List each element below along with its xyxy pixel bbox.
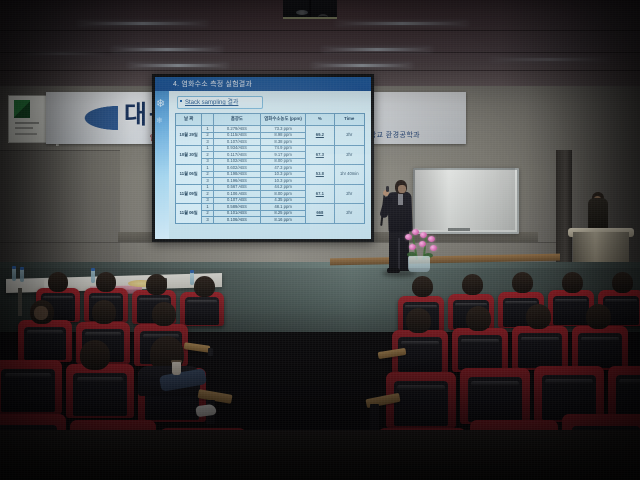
audience-head [194,276,215,297]
snowflake-icon: ❄ [156,99,165,110]
audience-head [526,304,551,329]
audience-head [512,272,533,293]
col-date: 날 짜 [176,114,202,126]
audience-head [96,272,116,292]
table-body: 10월 29일10.279/ABS73.3 ppm69.22hr20.115/A… [176,126,365,224]
audience-head [152,302,176,326]
orchid-bloom [428,236,435,242]
col-absorbance: 흡광도 [213,114,260,126]
presenter-face [398,185,406,193]
wall-poster [8,95,48,143]
audience-head [466,306,491,331]
row-date: 11월 06일 [176,204,202,224]
row-date: 11월 06일 [176,165,202,185]
ppm-value: 8.16 ppm [261,217,306,224]
floor-foreground [0,430,640,480]
seat [512,326,568,370]
slide-bullet-text: Stack sampling 결과 [185,97,238,106]
seat [452,328,508,372]
time-value: 2hr [334,126,365,146]
percent-value: 67.3 [306,145,334,165]
audience-head [562,272,583,293]
audience-head [406,308,431,333]
orchid-bloom [405,234,412,240]
snowflake-icon: ❄ [156,115,163,126]
audience-head [92,300,116,324]
seat [572,326,628,370]
projected-slide: ❄ ❄ 4. 염화수소 측정 실험결과 Stack sampling 결과 날 … [155,77,371,239]
row-date: 11월 09일 [176,184,202,204]
col-ppm: 염화수소농도 (ppm) [261,114,306,126]
microphone-icon [386,186,389,192]
time-value: 2hr [334,145,365,165]
photo-scene: 대구대학교 대구 일시 : 2009. 11. 20 대구대학교 환경공학과 ❄… [0,0,640,480]
seat [18,320,72,362]
audience-face [34,306,48,320]
time-value: 2hr [334,204,365,224]
seat [0,360,62,414]
table-header-row: 날 짜 흡광도 염화수소농도 (ppm) % Time [176,114,365,126]
percent-value: 53.8 [306,165,334,185]
percent-value: 668 [306,204,334,224]
audience-head [612,272,633,293]
audience-head [462,274,483,295]
poster-logo-icon [14,100,30,118]
sample-index: 3 [202,217,214,224]
audience-head [412,276,433,297]
orchid-bloom [420,232,427,238]
coffee-cup [172,362,181,375]
slide-data-table: 날 짜 흡광도 염화수소농도 (ppm) % Time 10월 29일10.27… [175,113,365,224]
whiteboard-marker-tray [448,228,470,231]
podium-person [588,198,608,232]
bullet-dot-icon [180,100,182,102]
seat [180,292,224,326]
orchid-bloom [419,241,426,247]
orchid-bloom [409,244,416,250]
audience-head [586,304,611,329]
audience-head [146,274,167,295]
row-date: 10월 30일 [176,145,202,165]
col-time: Time [334,114,365,126]
row-date: 10월 29일 [176,126,202,146]
whiteboard-shading [413,168,515,230]
percent-value: 69.2 [306,126,334,146]
audience-head [80,340,110,370]
orchid-bloom [412,229,419,235]
seat [460,368,530,424]
time-value: 2hr [334,184,365,204]
seat [66,364,134,418]
orchid-bloom [430,245,437,251]
absorbance-value: 0.106/ABS [213,217,260,224]
slide-title: 4. 염화수소 측정 실험결과 [173,79,252,89]
audience-head [48,272,68,292]
presenter-shirt [398,193,403,205]
mobile-phone [208,348,213,356]
time-value: 1hr 40min [334,165,365,185]
percent-value: 67.1 [306,184,334,204]
col-percent: % [306,114,334,126]
